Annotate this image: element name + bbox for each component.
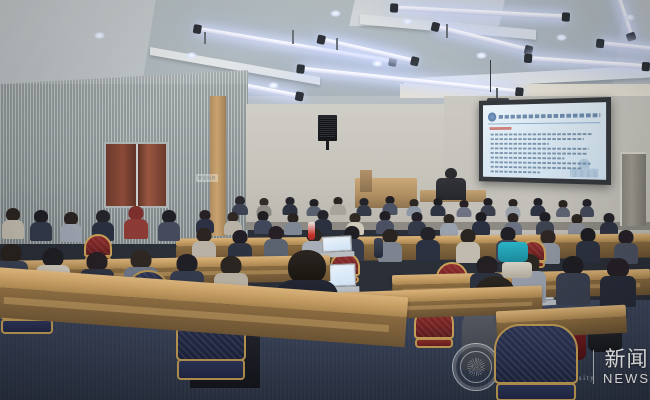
audience-person — [456, 200, 471, 216]
projection-screen — [479, 97, 611, 185]
exit-sign: 安全出口 — [196, 174, 218, 182]
downlight-9 — [624, 14, 635, 21]
slide-section-heading — [490, 127, 512, 130]
lecture-hall-photo: 安全出口 — [0, 0, 650, 400]
downlight-5 — [402, 18, 413, 25]
downlight-2 — [186, 52, 197, 59]
thermos-bottle — [374, 238, 383, 258]
projector-cable — [490, 60, 491, 92]
tube-hanger-4 — [336, 38, 338, 50]
tube-hanger-1 — [292, 30, 294, 44]
backpack-teal — [498, 242, 528, 262]
downlight-3 — [268, 82, 279, 89]
downlight-6 — [372, 60, 383, 67]
water-bottle — [308, 222, 315, 240]
chair-navy[interactable] — [494, 324, 578, 400]
downlight-4 — [330, 10, 341, 17]
audience-person — [600, 258, 636, 306]
audience-person — [30, 210, 52, 240]
slide-title — [499, 113, 601, 119]
campus-building-graphic — [565, 156, 603, 178]
audience-person — [330, 197, 346, 215]
slide-divider — [488, 122, 600, 124]
audience-person — [158, 210, 180, 240]
tote-bag — [502, 262, 532, 278]
slide-surface — [483, 102, 606, 180]
downlight-7 — [476, 52, 487, 59]
audience-person — [416, 227, 440, 261]
tube-hanger-2 — [204, 32, 206, 44]
wall-speaker — [318, 115, 337, 141]
downlight-1 — [94, 32, 105, 39]
tube-hanger-3 — [446, 24, 448, 38]
audience-person — [282, 197, 297, 214]
audience-person — [60, 212, 82, 241]
audience-person — [124, 206, 148, 238]
exit-sign-label: 安全出口 — [196, 174, 218, 182]
audience-person — [430, 198, 445, 215]
downlight-8 — [556, 34, 567, 41]
audience-person — [556, 256, 590, 304]
wall-speaker-bracket — [326, 141, 329, 150]
audience-person — [2, 208, 24, 238]
presenter-head — [445, 168, 457, 179]
lectern-stand — [360, 170, 372, 192]
slide-header — [488, 109, 600, 121]
university-crest-icon — [488, 112, 496, 121]
